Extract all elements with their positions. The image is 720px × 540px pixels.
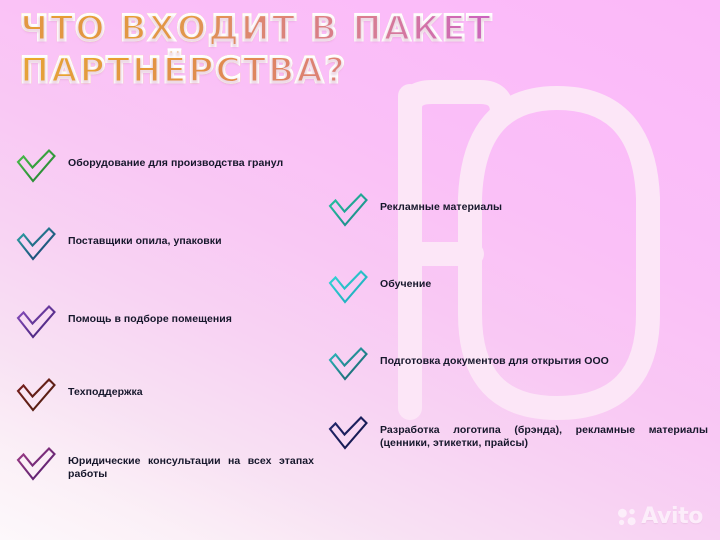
- feature-item: Помощь в подборе помещения: [14, 304, 314, 344]
- check-icon: [14, 226, 58, 266]
- feature-item: Оборудование для производства гранул: [14, 148, 314, 188]
- feature-label: Юридические консультации на всех этапах …: [68, 446, 314, 481]
- feature-label: Техподдержка: [68, 377, 314, 399]
- poster-title: ЧТО ВХОДИТ В ПАКЕТ ПАРТНЁРСТВА?: [20, 8, 660, 92]
- feature-item: Обучение: [326, 269, 708, 309]
- check-icon: [326, 346, 370, 386]
- feature-label: Помощь в подборе помещения: [68, 304, 314, 326]
- feature-item: Юридические консультации на всех этапах …: [14, 446, 314, 486]
- check-icon: [14, 377, 58, 417]
- title-line-2: ПАРТНЁРСТВА?: [20, 50, 660, 92]
- feature-label: Обучение: [380, 269, 708, 291]
- feature-label: Подготовка документов для открытия ООО: [380, 346, 708, 368]
- check-icon: [14, 304, 58, 344]
- feature-item: Разработка логотипа (брэнда), рекламные …: [326, 415, 708, 455]
- feature-item: Поставщики опила, упаковки: [14, 226, 314, 266]
- feature-label: Разработка логотипа (брэнда), рекламные …: [380, 415, 708, 450]
- check-icon: [14, 446, 58, 486]
- check-icon: [14, 148, 58, 188]
- poster-canvas: ЧТО ВХОДИТ В ПАКЕТ ПАРТНЁРСТВА? Оборудов…: [0, 0, 720, 540]
- check-icon: [326, 269, 370, 309]
- check-icon: [326, 192, 370, 232]
- check-icon: [326, 415, 370, 455]
- avito-dots-icon: [617, 507, 637, 527]
- avito-watermark: Avito: [617, 506, 703, 528]
- feature-label: Оборудование для производства гранул: [68, 148, 314, 170]
- feature-item: Подготовка документов для открытия ООО: [326, 346, 708, 386]
- feature-item: Техподдержка: [14, 377, 314, 417]
- feature-label: Рекламные материалы: [380, 192, 708, 214]
- title-line-1: ЧТО ВХОДИТ В ПАКЕТ: [20, 8, 660, 50]
- avito-wordmark: Avito: [641, 506, 703, 528]
- feature-item: Рекламные материалы: [326, 192, 708, 232]
- feature-label: Поставщики опила, упаковки: [68, 226, 314, 248]
